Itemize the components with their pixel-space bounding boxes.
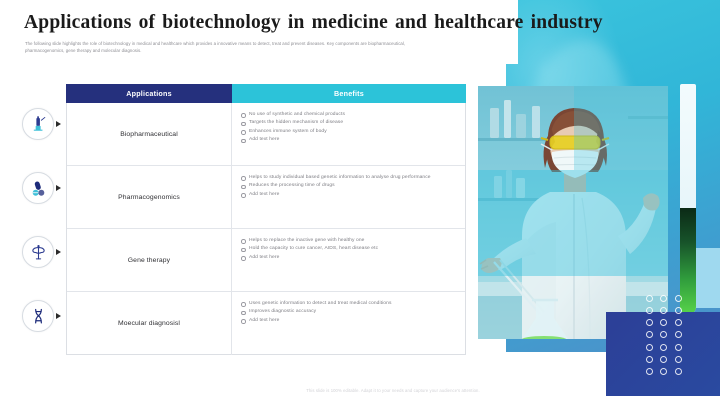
benefit-item: Helps to study individual based genetic … [240,174,455,182]
grid-dot [675,368,682,375]
benefit-item: Hold the capacity to cure cancer, AIDS, … [240,245,455,253]
dot-grid-pattern [642,292,686,378]
row-arrow-icon [56,249,61,255]
application-name: Pharmacogenomics [67,166,232,228]
benefit-item: No use of synthetic and chemical product… [240,111,455,119]
benefits-list: Uses genetic information to detect and t… [240,300,455,325]
editable-footer-note: This slide is 100% editable. Adapt it to… [228,388,558,393]
pills-capsule-icon [22,172,54,204]
grid-dot [675,295,682,302]
row-icon-biopharmaceutical[interactable] [22,108,66,140]
grid-dot [646,331,653,338]
row-arrow-icon [56,121,61,127]
benefit-item: Reduces the processing time of drugs [240,182,455,190]
benefit-item: Helps to replace the inactive gene with … [240,237,455,245]
grid-dot [660,295,667,302]
decorative-artwork-panel [466,0,720,404]
row-arrow-icon [56,313,61,319]
page-title: Applications of biotechnology in medicin… [24,12,604,34]
applications-benefits-table: Applications Benefits Biopharmaceutical … [66,84,466,356]
dna-chromosome-icon [22,300,54,332]
grid-dot [646,356,653,363]
benefits-list: Helps to study individual based genetic … [240,174,455,199]
grid-dot [646,319,653,326]
application-name: Biopharmaceutical [67,103,232,165]
column-header-benefits: Benefits [232,84,466,103]
table-row[interactable]: Moecular diagnosisl Uses genetic informa… [67,292,465,355]
benefits-cell: Helps to study individual based genetic … [232,166,465,228]
benefit-item: Add text here [240,254,455,262]
application-icon-column [18,84,66,356]
grid-dot [660,344,667,351]
grid-dot [675,319,682,326]
slide-canvas: Applications of biotechnology in medicin… [0,0,720,404]
grid-dot [660,356,667,363]
grid-dot [660,331,667,338]
benefit-item: Improves diagnostic accuracy [240,308,455,316]
row-icon-molecular-diagnosis[interactable] [22,300,66,332]
row-icon-gene-therapy[interactable] [22,236,66,268]
table-row[interactable]: Biopharmaceutical No use of synthetic an… [67,103,465,166]
grid-dot [675,307,682,314]
table-body: Biopharmaceutical No use of synthetic an… [66,103,466,355]
grid-dot [675,356,682,363]
benefits-cell: No use of synthetic and chemical product… [232,103,465,165]
table-header-row: Applications Benefits [66,84,466,103]
benefit-item: Add text here [240,317,455,325]
laboratory-scientist-photo [478,86,668,339]
grid-dot [675,331,682,338]
benefit-item: Targets the hidden mechanism of disease [240,119,455,127]
benefit-item: Enhances immune system of body [240,128,455,136]
benefit-item: Uses genetic information to detect and t… [240,300,455,308]
table-row[interactable]: Pharmacogenomics Helps to study individu… [67,166,465,229]
application-name: Moecular diagnosisl [67,292,232,355]
caduceus-medical-icon [22,236,54,268]
benefits-list: No use of synthetic and chemical product… [240,111,455,144]
grid-dot [675,344,682,351]
grid-dot [660,319,667,326]
grid-dot [660,307,667,314]
application-name: Gene therapy [67,229,232,291]
syringe-vial-icon [22,108,54,140]
column-header-applications: Applications [66,84,232,103]
benefit-item: Add text here [240,136,455,144]
table-row[interactable]: Gene therapy Helps to replace the inacti… [67,229,465,292]
row-icon-pharmacogenomics[interactable] [22,172,66,204]
benefits-cell: Helps to replace the inactive gene with … [232,229,465,291]
page-subtitle: The following slide highlights the role … [25,40,445,55]
grid-dot [646,344,653,351]
benefit-item: Add text here [240,191,455,199]
grid-dot [646,295,653,302]
benefits-list: Helps to replace the inactive gene with … [240,237,455,262]
row-arrow-icon [56,185,61,191]
grid-dot [646,368,653,375]
benefits-cell: Uses genetic information to detect and t… [232,292,465,355]
grid-dot [646,307,653,314]
grid-dot [660,368,667,375]
